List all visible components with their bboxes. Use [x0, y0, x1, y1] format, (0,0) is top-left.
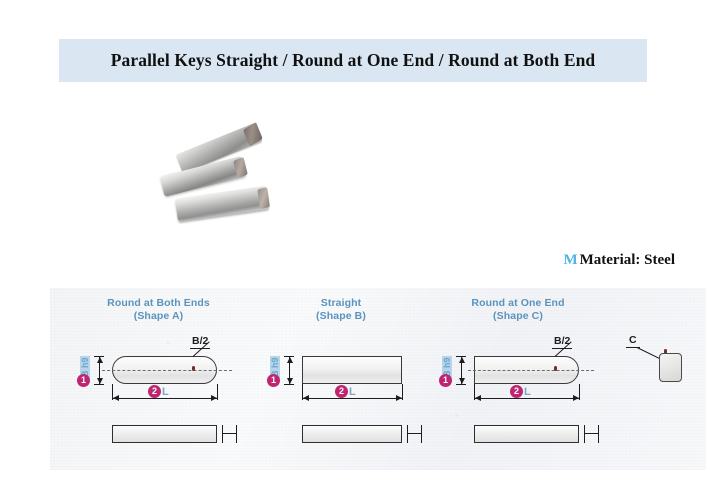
shape-b-width-marker: 1	[267, 374, 280, 387]
shape-a-height-bottom-tick	[94, 384, 104, 385]
shape-c-heading: Round at One End (Shape C)	[418, 297, 618, 323]
key-block-front	[175, 186, 269, 222]
shape-a-heading-line1: Round at Both Ends	[107, 297, 210, 309]
shape-a-centerline	[102, 370, 232, 371]
shape-a-plan-rect	[112, 425, 217, 443]
diagram-shape-b: Straight (Shape B) B h9 1 2 L	[246, 288, 436, 470]
shape-a-width-marker: 1	[77, 374, 90, 387]
shape-c-length-arrow-left	[475, 395, 481, 401]
shape-b-height-bottom-tick	[284, 384, 294, 385]
shape-b-elevation-view: B h9 1 2 L	[246, 344, 436, 406]
shape-c-length-ext-right	[579, 384, 580, 400]
shape-b-plan-view	[246, 421, 436, 455]
shape-a-height-arrow-up	[97, 357, 103, 363]
shape-c-length-group: 2 L	[510, 385, 531, 398]
shape-b-length-label: L	[349, 386, 356, 398]
shape-c-heading-line1: Round at One End	[471, 297, 564, 309]
shape-c-height-arrow-up	[459, 357, 465, 363]
shape-c-length-dim-line	[474, 398, 579, 399]
shape-a-length-ext-right	[217, 384, 218, 400]
shape-c-end-leader-dot	[554, 366, 557, 371]
shape-c-plan-view	[418, 421, 618, 455]
shape-b-length-dim-line	[302, 398, 402, 399]
diagram-shape-c: Round at One End (Shape C) B h9 1 B/2	[418, 288, 618, 470]
shape-b-length-group: 2 L	[335, 385, 356, 398]
shape-a-length-group: 2 L	[148, 385, 169, 398]
shape-a-heading: Round at Both Ends (Shape A)	[56, 297, 261, 323]
shape-b-length-arrow-right	[396, 395, 402, 401]
material-mark-icon: M	[563, 252, 577, 268]
page-title: Parallel Keys Straight / Round at One En…	[111, 50, 596, 71]
material-text: Material: Steel	[580, 252, 675, 268]
shape-a-length-label: L	[162, 386, 169, 398]
shape-a-plan-view	[56, 421, 261, 455]
product-photo	[156, 136, 274, 228]
shape-c-height-arrow-down	[459, 378, 465, 384]
shape-a-height-arrow-down	[97, 378, 103, 384]
shape-a-end-leader-dot	[192, 366, 195, 371]
shape-b-heading-line1: Straight	[321, 297, 361, 309]
shape-b-heading-line2: (Shape B)	[246, 310, 436, 323]
page-title-band: Parallel Keys Straight / Round at One En…	[59, 39, 647, 82]
shape-a-length-marker: 2	[148, 385, 161, 398]
shape-c-thickness-mark	[584, 425, 599, 443]
shape-c-centerline	[468, 370, 594, 371]
shape-b-length-ext-right	[402, 384, 403, 400]
shape-c-width-marker: 1	[439, 374, 452, 387]
shape-b-heading: Straight (Shape B)	[246, 297, 436, 323]
shape-a-heading-line2: (Shape A)	[56, 310, 261, 323]
shape-a-length-dim-line	[112, 398, 217, 399]
shape-a-elevation-view: B h9 1 B/2 2 L	[56, 344, 261, 406]
shape-c-height-bottom-tick	[456, 384, 466, 385]
shape-a-length-arrow-left	[113, 395, 119, 401]
diagram-shape-a: Round at Both Ends (Shape A) B h9 1 B/2	[56, 288, 261, 470]
shape-c-elevation-view: B h9 1 B/2 2 L	[418, 344, 618, 406]
shape-a-thickness-mark	[222, 425, 237, 443]
shape-b-length-arrow-left	[303, 395, 309, 401]
shape-c-length-arrow-right	[573, 395, 579, 401]
technical-drawing-panel: Round at Both Ends (Shape A) B h9 1 B/2	[50, 288, 706, 470]
shape-b-length-marker: 2	[335, 385, 348, 398]
shape-a-length-arrow-right	[211, 395, 217, 401]
shape-b-height-arrow-down	[287, 378, 293, 384]
shape-b-plan-rect	[302, 425, 402, 443]
chamfer-detail: C	[615, 334, 685, 404]
shape-c-plan-rect	[474, 425, 579, 443]
shape-b-height-arrow-up	[287, 357, 293, 363]
chamfer-cross-section	[659, 353, 682, 382]
chamfer-label: C	[626, 334, 640, 348]
shape-c-length-label: L	[524, 386, 531, 398]
shape-c-heading-line2: (Shape C)	[418, 310, 618, 323]
shape-b-body	[302, 356, 402, 384]
shape-c-length-marker: 2	[510, 385, 523, 398]
material-line: MMaterial: Steel	[563, 252, 675, 269]
